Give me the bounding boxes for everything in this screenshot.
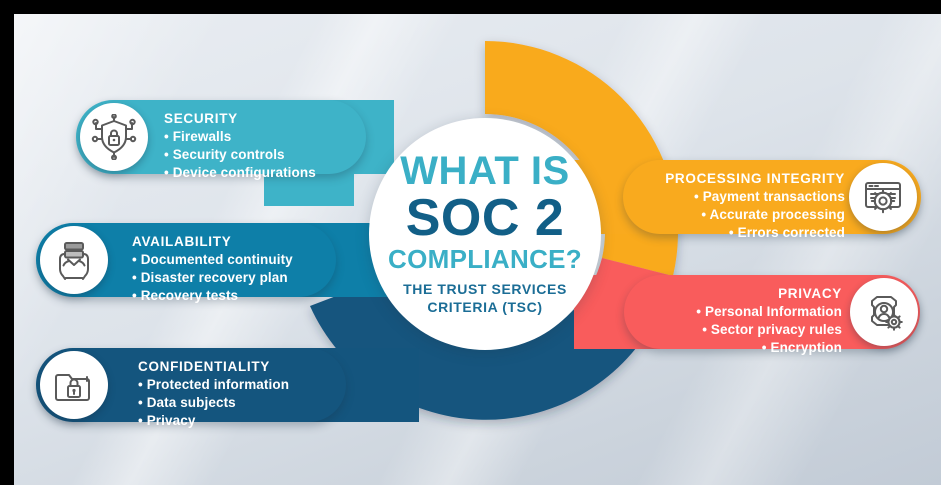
list-item: Personal Information <box>634 303 842 321</box>
list-item: Errors corrected <box>631 224 845 242</box>
panel-security-title: SECURITY <box>164 111 360 127</box>
center-title-compliance: COMPLIANCE? <box>388 246 582 272</box>
center-subtitle: THE TRUST SERVICES CRITERIA (TSC) <box>403 281 567 316</box>
availability-icon-badge <box>40 226 108 294</box>
center-subtitle-line2: CRITERIA (TSC) <box>403 299 567 317</box>
panel-processing-integrity-title: PROCESSING INTEGRITY <box>631 171 845 187</box>
list-item: Payment transactions <box>631 188 845 206</box>
panel-security-text: SECURITY Firewalls Security controls Dev… <box>164 111 360 182</box>
center-title-soc2: SOC 2 <box>406 192 565 244</box>
list-item: Device configurations <box>164 164 360 182</box>
list-item: Encryption <box>634 339 842 357</box>
panel-confidentiality[interactable]: CONFIDENTIALITY Protected information Da… <box>36 348 356 428</box>
shield-lock-network-icon <box>91 114 137 160</box>
list-item: Security controls <box>164 146 360 164</box>
panel-processing-integrity-list: Payment transactions Accurate processing… <box>631 188 845 241</box>
panel-processing-integrity-text: PROCESSING INTEGRITY Payment transaction… <box>631 171 845 242</box>
panel-privacy-list: Personal Information Sector privacy rule… <box>634 303 842 356</box>
list-item: Disaster recovery plan <box>132 269 332 287</box>
privacy-icon-badge <box>850 278 918 346</box>
list-item: Accurate processing <box>631 206 845 224</box>
center-badge: WHAT IS SOC 2 COMPLIANCE? THE TRUST SERV… <box>369 118 601 350</box>
panel-availability-list: Documented continuity Disaster recovery … <box>132 251 332 304</box>
list-item: Sector privacy rules <box>634 321 842 339</box>
center-subtitle-line1: THE TRUST SERVICES <box>403 281 567 299</box>
panel-availability-text: AVAILABILITY Documented continuity Disas… <box>132 234 332 305</box>
confidentiality-icon-badge <box>40 351 108 419</box>
list-item: Privacy <box>138 412 344 430</box>
panel-privacy-text: PRIVACY Personal Information Sector priv… <box>634 286 842 357</box>
folder-lock-icon <box>51 362 97 408</box>
infographic-canvas: WHAT IS SOC 2 COMPLIANCE? THE TRUST SERV… <box>14 14 941 485</box>
panel-availability-title: AVAILABILITY <box>132 234 332 250</box>
panel-privacy[interactable]: PRIVACY Personal Information Sector priv… <box>624 275 926 355</box>
center-title-what: WHAT IS <box>400 152 569 190</box>
panel-confidentiality-title: CONFIDENTIALITY <box>138 359 344 375</box>
list-item: Recovery tests <box>132 287 332 305</box>
panel-privacy-title: PRIVACY <box>634 286 842 302</box>
panel-security-list: Firewalls Security controls Device confi… <box>164 128 360 181</box>
infographic-frame: WHAT IS SOC 2 COMPLIANCE? THE TRUST SERV… <box>0 0 941 485</box>
list-item: Firewalls <box>164 128 360 146</box>
browser-gear-icon <box>860 174 906 220</box>
list-item: Documented continuity <box>132 251 332 269</box>
hands-holding-servers-icon <box>51 237 97 283</box>
panel-confidentiality-list: Protected information Data subjects Priv… <box>138 376 344 429</box>
shield-user-gear-icon <box>861 289 907 335</box>
panel-processing-integrity[interactable]: PROCESSING INTEGRITY Payment transaction… <box>619 160 925 240</box>
security-icon-badge <box>80 103 148 171</box>
panel-confidentiality-text: CONFIDENTIALITY Protected information Da… <box>138 359 344 430</box>
panel-availability[interactable]: AVAILABILITY Documented continuity Disas… <box>36 223 346 303</box>
panel-security[interactable]: SECURITY Firewalls Security controls Dev… <box>76 100 376 180</box>
list-item: Data subjects <box>138 394 344 412</box>
list-item: Protected information <box>138 376 344 394</box>
processing-integrity-icon-badge <box>849 163 917 231</box>
